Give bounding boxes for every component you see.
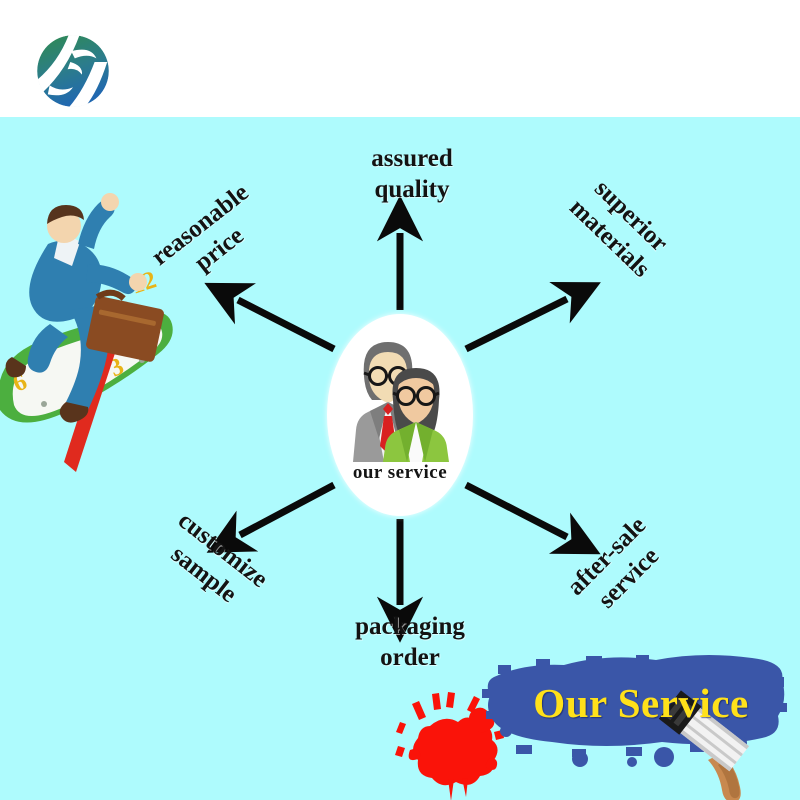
two-people-avatar-icon [338,336,462,462]
center-hub-badge: our service [327,314,473,516]
center-hub-caption: our service [327,462,473,484]
our-service-banner-text: Our Service [506,679,776,727]
node-label-line1: packaging [320,612,500,643]
page-root: our service assured quality superior mat… [0,0,800,800]
node-label-line2: quality [337,175,487,206]
brand-logo-icon [28,26,118,116]
node-label-packaging-order: packaging order [320,612,500,673]
businessman-running-on-melting-clock-icon: 12 3 6 [0,182,182,482]
main-canvas: our service assured quality superior mat… [0,117,800,800]
node-label-assured-quality: assured quality [337,144,487,205]
node-label-line1: assured [337,144,487,175]
arrow-up-left [238,300,334,349]
header-band [0,0,800,117]
arrow-up-right [466,299,567,349]
arrow-down-left [240,485,334,535]
node-label-line2: order [320,643,500,674]
arrow-down-right [466,485,567,537]
